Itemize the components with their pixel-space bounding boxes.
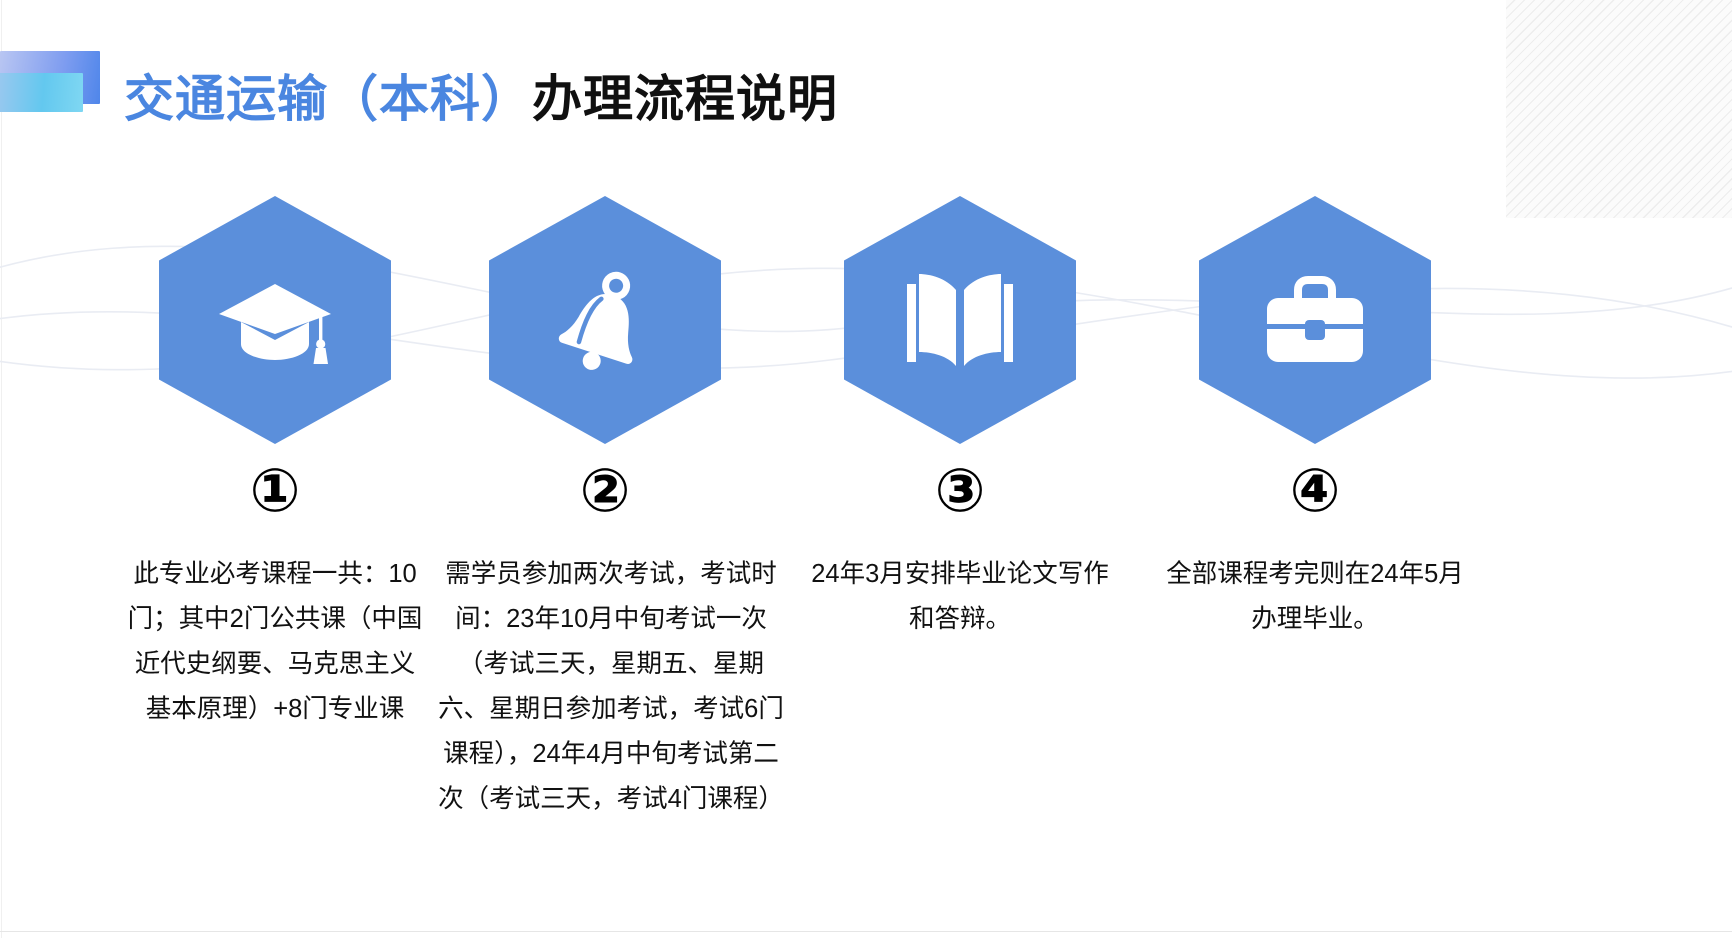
step-1-number: ①: [105, 460, 445, 522]
step-2-description: 需学员参加两次考试，考试时间：23年10月中旬考试一次（考试三天，星期五、星期六…: [435, 552, 787, 822]
process-step-1[interactable]: ① 此专业必考课程一共：10门；其中2门公共课（中国近代史纲要、马克思主义基本原…: [105, 196, 445, 732]
slide-canvas: 交通运输（本科）办理流程说明 ① 此专业必考课程一共：10门；其中2门公共课（中…: [0, 0, 1732, 938]
step-2-number: ②: [435, 460, 775, 522]
hatch-pattern-decoration: [1506, 0, 1732, 218]
step-1-hexagon[interactable]: [159, 196, 391, 444]
page-title: 交通运输（本科）办理流程说明: [124, 74, 838, 124]
step-4-hexagon[interactable]: [1199, 196, 1431, 444]
open-book-icon: [844, 196, 1076, 444]
step-2-hexagon[interactable]: [489, 196, 721, 444]
bottom-divider: [0, 931, 1732, 932]
left-edge-rule: [1, 0, 2, 938]
graduation-cap-icon: [159, 196, 391, 444]
page-title-rest: 办理流程说明: [532, 71, 838, 127]
step-4-description: 全部课程考完则在24年5月办理毕业。: [1165, 552, 1465, 642]
page-title-highlight: 交通运输（本科）: [124, 71, 532, 127]
process-step-4[interactable]: ④ 全部课程考完则在24年5月办理毕业。: [1145, 196, 1485, 642]
step-4-number: ④: [1145, 460, 1485, 522]
step-3-hexagon[interactable]: [844, 196, 1076, 444]
step-3-description: 24年3月安排毕业论文写作和答辩。: [810, 552, 1110, 642]
step-1-description: 此专业必考课程一共：10门；其中2门公共课（中国近代史纲要、马克思主义基本原理）…: [125, 552, 425, 732]
bell-icon: [489, 196, 721, 444]
process-step-2[interactable]: ② 需学员参加两次考试，考试时间：23年10月中旬考试一次（考试三天，星期五、星…: [435, 196, 775, 822]
step-3-number: ③: [790, 460, 1130, 522]
process-step-3[interactable]: ③ 24年3月安排毕业论文写作和答辩。: [790, 196, 1130, 642]
decorative-rect-front: [0, 73, 83, 112]
briefcase-icon: [1199, 196, 1431, 444]
